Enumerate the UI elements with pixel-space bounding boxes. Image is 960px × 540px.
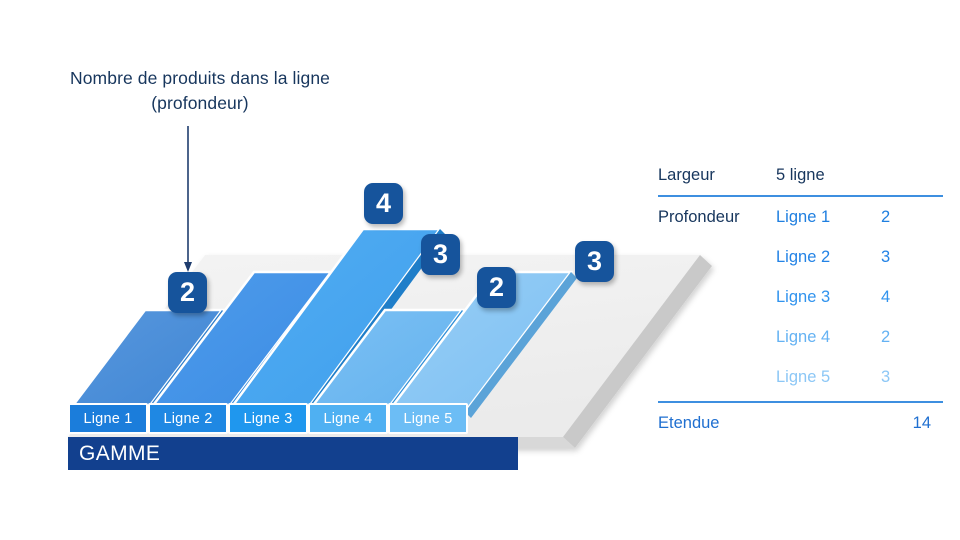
badge-ligne-2: 3 — [421, 234, 460, 275]
row-name: Ligne 1 — [776, 208, 881, 227]
badge-ligne-1: 2 — [168, 272, 207, 313]
badge-value: 3 — [587, 248, 602, 275]
row-value: 2 — [881, 328, 941, 347]
callout-pointer — [184, 126, 192, 272]
tile-ligne-5[interactable]: Ligne 5 — [388, 403, 468, 434]
tile-ligne-3[interactable]: Ligne 3 — [228, 403, 308, 434]
summary-table: Largeur 5 ligne Profondeur Ligne 1 2 Lig… — [658, 155, 943, 443]
table-row-etendue: Etendue 14 — [658, 403, 943, 443]
badge-ligne-3: 4 — [364, 183, 403, 224]
tile-ligne-4[interactable]: Ligne 4 — [308, 403, 388, 434]
etendue-label: Etendue — [658, 414, 772, 433]
table-row: Ligne 2 3 — [658, 237, 943, 277]
largeur-value: 5 ligne — [776, 166, 881, 185]
row-name: Ligne 4 — [776, 328, 881, 347]
gamme-bar: GAMME — [68, 437, 518, 470]
tile-ligne-2[interactable]: Ligne 2 — [148, 403, 228, 434]
table-row-largeur: Largeur 5 ligne — [658, 155, 943, 195]
badge-value: 2 — [180, 279, 195, 306]
badge-value: 2 — [489, 274, 504, 301]
tile-label: Ligne 1 — [84, 411, 133, 427]
row-name: Ligne 5 — [776, 368, 881, 387]
tile-label: Ligne 3 — [244, 411, 293, 427]
table-row: Ligne 3 4 — [658, 277, 943, 317]
etendue-value: 14 — [873, 414, 943, 433]
badge-value: 4 — [376, 190, 391, 217]
table-row: Profondeur Ligne 1 2 — [658, 197, 943, 237]
row-value: 3 — [881, 368, 941, 387]
row-value: 4 — [881, 288, 941, 307]
tile-ligne-1[interactable]: Ligne 1 — [68, 403, 148, 434]
row-name: Ligne 3 — [776, 288, 881, 307]
row-value: 3 — [881, 248, 941, 267]
profondeur-label: Profondeur — [658, 208, 776, 227]
badge-ligne-5: 3 — [575, 241, 614, 282]
tile-label: Ligne 2 — [164, 411, 213, 427]
slide-canvas: Nombre de produits dans la ligne (profon… — [0, 0, 960, 540]
tile-label: Ligne 5 — [404, 411, 453, 427]
largeur-label: Largeur — [658, 166, 776, 185]
row-name: Ligne 2 — [776, 248, 881, 267]
row-value: 2 — [881, 208, 941, 227]
tile-label: Ligne 4 — [324, 411, 373, 427]
gamme-label: GAMME — [79, 442, 160, 466]
badge-value: 3 — [433, 241, 448, 268]
table-row: Ligne 5 3 — [658, 357, 943, 397]
badge-ligne-4: 2 — [477, 267, 516, 308]
table-row: Ligne 4 2 — [658, 317, 943, 357]
